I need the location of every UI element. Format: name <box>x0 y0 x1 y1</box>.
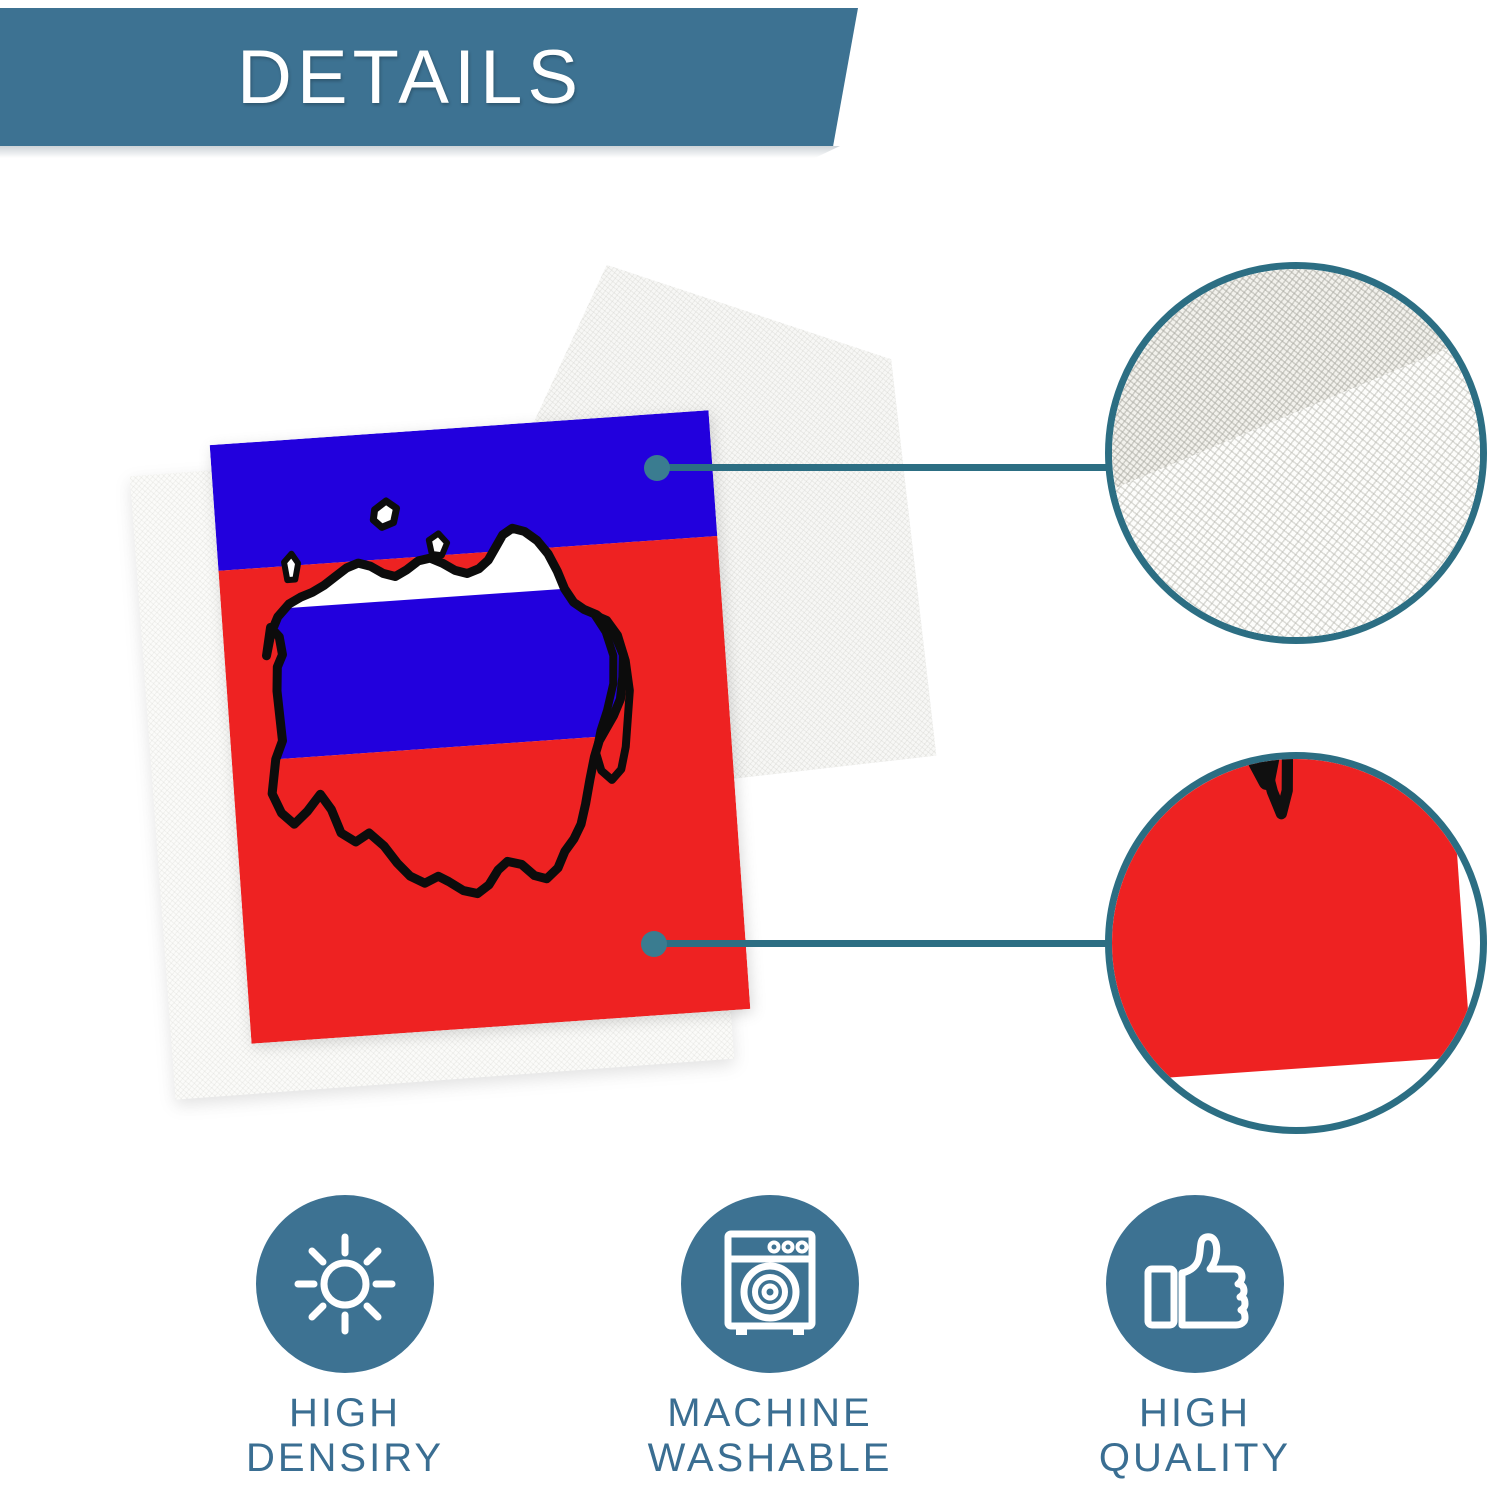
feature-item-machine-washable: MACHINE WASHABLE <box>605 1195 935 1481</box>
feature-item-high-quality: HIGH QUALITY <box>1030 1195 1360 1481</box>
feature-badge-high-density <box>256 1195 434 1373</box>
callout-print-corner <box>1105 752 1487 1134</box>
feature-highlights-row: HIGH DENSIRY MACHINE WASHABLE <box>180 1195 1360 1485</box>
map-island-mid <box>428 533 447 556</box>
banner-drop-shadow <box>0 146 840 158</box>
map-outline-fragment <box>1105 752 1356 796</box>
connector-line-print <box>652 940 1127 947</box>
details-header-banner: DETAILS <box>0 8 858 146</box>
page-title: DETAILS <box>0 8 820 146</box>
feature-label-high-quality: HIGH QUALITY <box>1099 1391 1291 1481</box>
thumbs-up-icon <box>1138 1227 1252 1341</box>
printed-red-corner <box>1105 752 1471 1086</box>
feature-label-machine-washable: MACHINE WASHABLE <box>648 1391 893 1481</box>
feature-item-high-density: HIGH DENSIRY <box>180 1195 510 1481</box>
connector-dot-print <box>641 931 667 957</box>
feature-badge-machine-washable <box>681 1195 859 1373</box>
washing-machine-icon <box>712 1226 828 1342</box>
product-photo-group <box>130 245 990 1175</box>
connector-line-fabric <box>655 464 1125 471</box>
feature-label-high-density: HIGH DENSIRY <box>246 1391 444 1481</box>
map-island-west <box>283 553 299 580</box>
callout-fabric-weave <box>1105 262 1487 644</box>
sun-icon <box>290 1229 400 1339</box>
map-island-north <box>372 500 398 528</box>
russia-flag-map-print <box>210 410 751 1043</box>
feature-badge-high-quality <box>1106 1195 1284 1373</box>
connector-dot-fabric <box>644 455 670 481</box>
printed-napkin-front <box>210 410 751 1043</box>
